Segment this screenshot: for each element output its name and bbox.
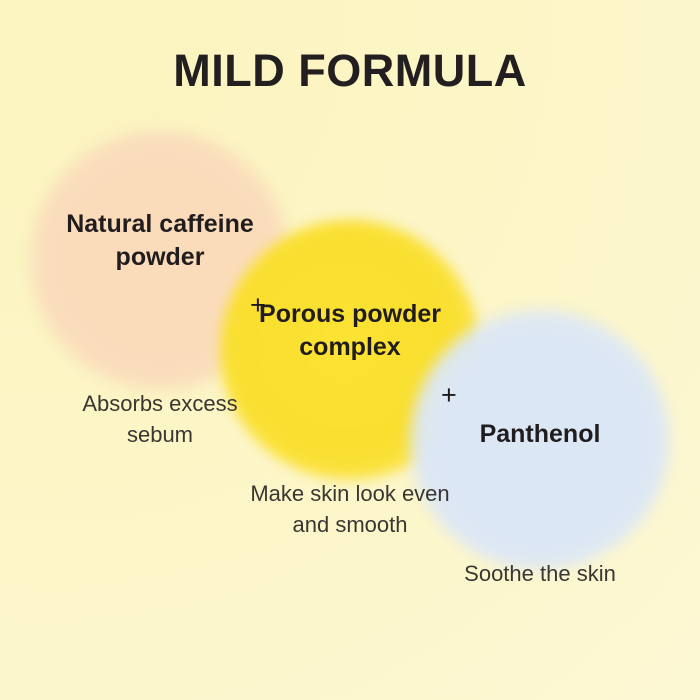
plus-separator-icon-1: + xyxy=(250,292,266,319)
ingredient-benefit-porous-powder: Make skin look even and smooth xyxy=(250,478,450,540)
plus-separator-icon-2: + xyxy=(441,382,457,409)
page-title: MILD FORMULA xyxy=(0,48,700,93)
ingredient-benefit-panthenol: Soothe the skin xyxy=(440,558,640,589)
ingredient-label-caffeine: Natural caffeine powder xyxy=(60,208,260,274)
mild-formula-infographic: MILD FORMULA Natural caffeine powder Por… xyxy=(0,0,700,700)
ingredient-label-panthenol: Panthenol xyxy=(440,418,640,451)
ingredient-label-porous-powder: Porous powder complex xyxy=(250,298,450,364)
ingredient-benefit-caffeine: Absorbs excess sebum xyxy=(60,388,260,450)
